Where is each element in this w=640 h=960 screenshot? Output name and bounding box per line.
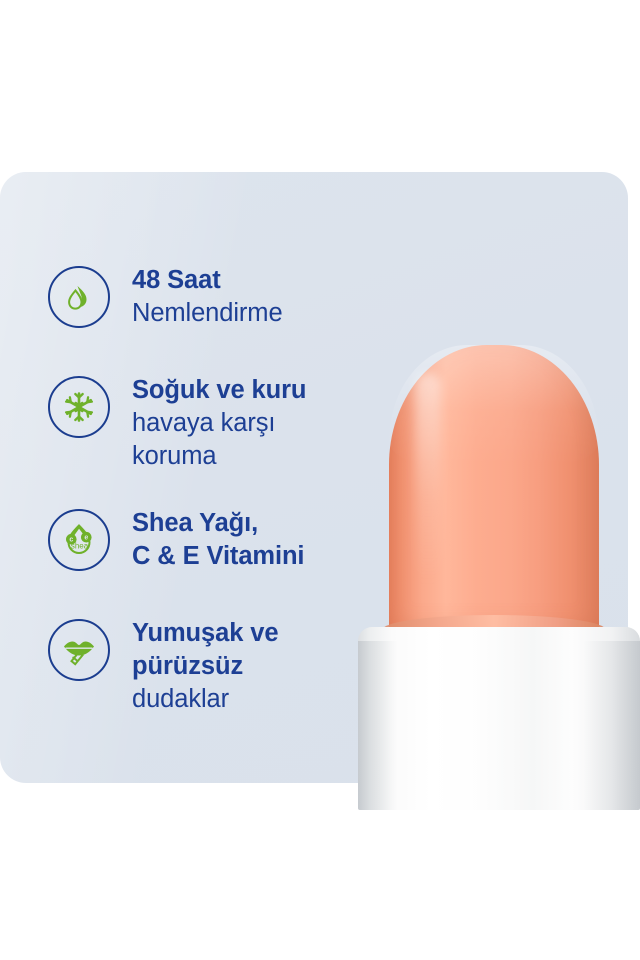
feature-text: Shea Yağı, C & E Vitamini: [132, 505, 304, 573]
shea-vitamin-droplet-icon: c e shea: [48, 509, 110, 571]
product-lip-balm: [358, 345, 640, 810]
feature-item-smooth-lips: Yumuşak ve pürüzsüz dudaklar: [48, 615, 378, 716]
feature-line: pürüzsüz: [132, 650, 278, 683]
snowflake-icon: [48, 376, 110, 438]
feature-text: Yumuşak ve pürüzsüz dudaklar: [132, 615, 278, 716]
feature-line: Nemlendirme: [132, 297, 283, 330]
feature-text: 48 Saat Nemlendirme: [132, 262, 283, 330]
feature-line: dudaklar: [132, 683, 278, 716]
feature-item-moisturizing: 48 Saat Nemlendirme: [48, 262, 378, 330]
lips-balm-icon: [48, 619, 110, 681]
product-feature-image: 48 Saat Nemlendirme: [0, 0, 640, 960]
leaf-droplet-icon: [48, 266, 110, 328]
feature-line: Yumuşak ve: [132, 617, 278, 650]
feature-line: 48 Saat: [132, 264, 283, 297]
feature-line: koruma: [132, 440, 306, 473]
feature-line: havaya karşı: [132, 407, 306, 440]
feature-list: 48 Saat Nemlendirme: [48, 262, 378, 716]
feature-line: C & E Vitamini: [132, 540, 304, 573]
balm-base-shading: [358, 641, 640, 810]
feature-item-cold-protection: Soğuk ve kuru havaya karşı koruma: [48, 372, 378, 473]
icon-label-shea: shea: [71, 541, 89, 550]
feature-text: Soğuk ve kuru havaya karşı koruma: [132, 372, 306, 473]
feature-line: Shea Yağı,: [132, 507, 304, 540]
feature-line: Soğuk ve kuru: [132, 374, 306, 407]
balm-cap: [389, 345, 599, 635]
feature-item-shea-vitamins: c e shea Shea Yağı, C & E Vitamini: [48, 505, 378, 573]
